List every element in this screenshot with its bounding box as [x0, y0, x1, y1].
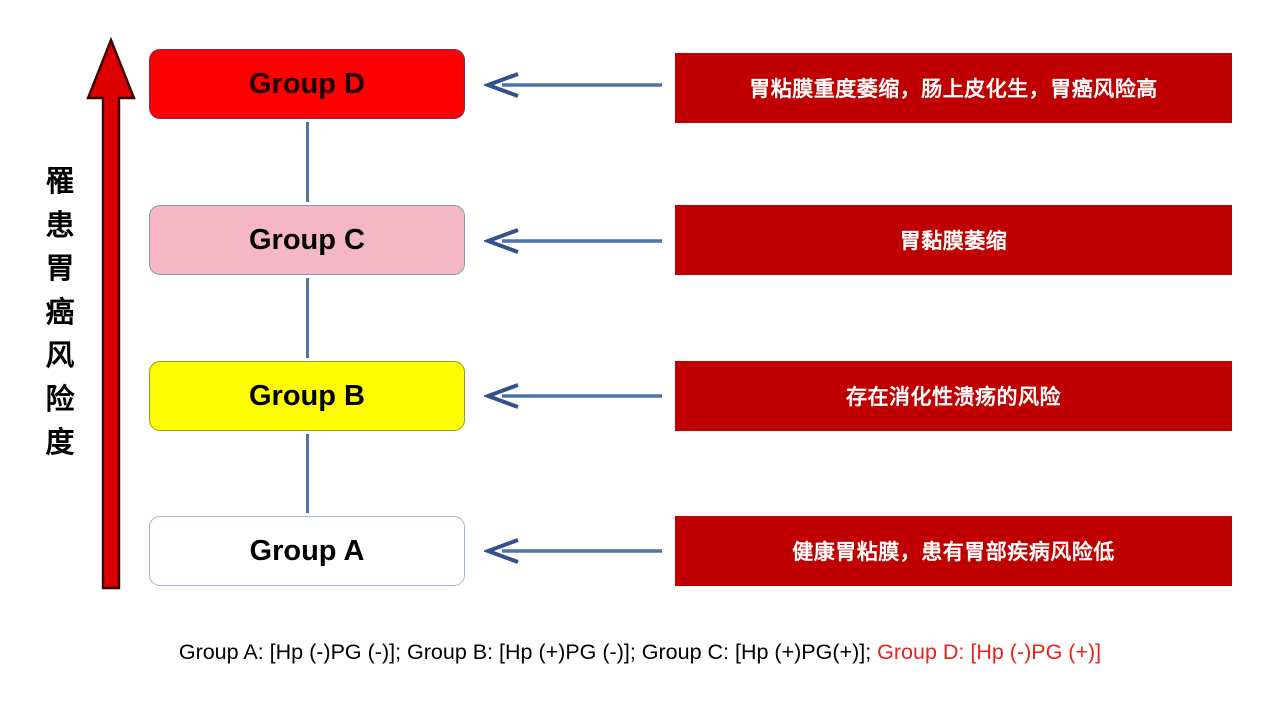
axis-char-0: 罹 [45, 168, 74, 197]
group-box-d-label: Group D [249, 68, 365, 101]
axis-char-3: 癌 [45, 299, 74, 328]
connector-d-c [306, 122, 309, 202]
pointer-arrow-b-icon [484, 383, 664, 409]
group-box-c-label: Group C [249, 224, 365, 257]
pointer-arrow-c-icon [484, 228, 664, 254]
axis-char-2: 胃 [45, 255, 74, 284]
group-box-d[interactable]: Group D [149, 49, 465, 119]
axis-char-6: 度 [45, 429, 74, 458]
group-box-a[interactable]: Group A [149, 516, 465, 586]
group-box-b-label: Group B [249, 380, 365, 413]
caption-red-segment: Group D: [Hp (-)PG (+)] [877, 640, 1101, 664]
description-banner-a: 健康胃粘膜，患有胃部疾病风险低 [675, 516, 1232, 586]
connector-b-a [306, 434, 309, 513]
description-banner-b: 存在消化性溃疡的风险 [675, 361, 1232, 431]
caption-black-segment: Group A: [Hp (-)PG (-)]; Group B: [Hp (+… [179, 640, 877, 664]
risk-up-arrow-icon [84, 36, 138, 592]
description-banner-a-text: 健康胃粘膜，患有胃部疾病风险低 [792, 536, 1115, 566]
axis-char-4: 风 [45, 342, 74, 371]
group-box-a-label: Group A [250, 535, 365, 568]
risk-axis-label: 罹 患 胃 癌 风 险 度 [32, 168, 88, 458]
caption-legend: Group A: [Hp (-)PG (-)]; Group B: [Hp (+… [0, 640, 1280, 665]
description-banner-b-text: 存在消化性溃疡的风险 [846, 381, 1061, 411]
group-box-b[interactable]: Group B [149, 361, 465, 431]
group-box-c[interactable]: Group C [149, 205, 465, 275]
description-banner-c: 胃黏膜萎缩 [675, 205, 1232, 275]
pointer-arrow-d-icon [484, 72, 664, 98]
description-banner-c-text: 胃黏膜萎缩 [900, 225, 1008, 255]
description-banner-d-text: 胃粘膜重度萎缩，肠上皮化生，胃癌风险高 [749, 73, 1158, 103]
description-banner-d: 胃粘膜重度萎缩，肠上皮化生，胃癌风险高 [675, 53, 1232, 123]
axis-char-5: 险 [45, 386, 74, 415]
pointer-arrow-a-icon [484, 538, 664, 564]
axis-char-1: 患 [45, 212, 74, 241]
diagram-canvas: 罹 患 胃 癌 风 险 度 Group D Group C Group B Gr… [0, 0, 1280, 720]
connector-c-b [306, 278, 309, 358]
